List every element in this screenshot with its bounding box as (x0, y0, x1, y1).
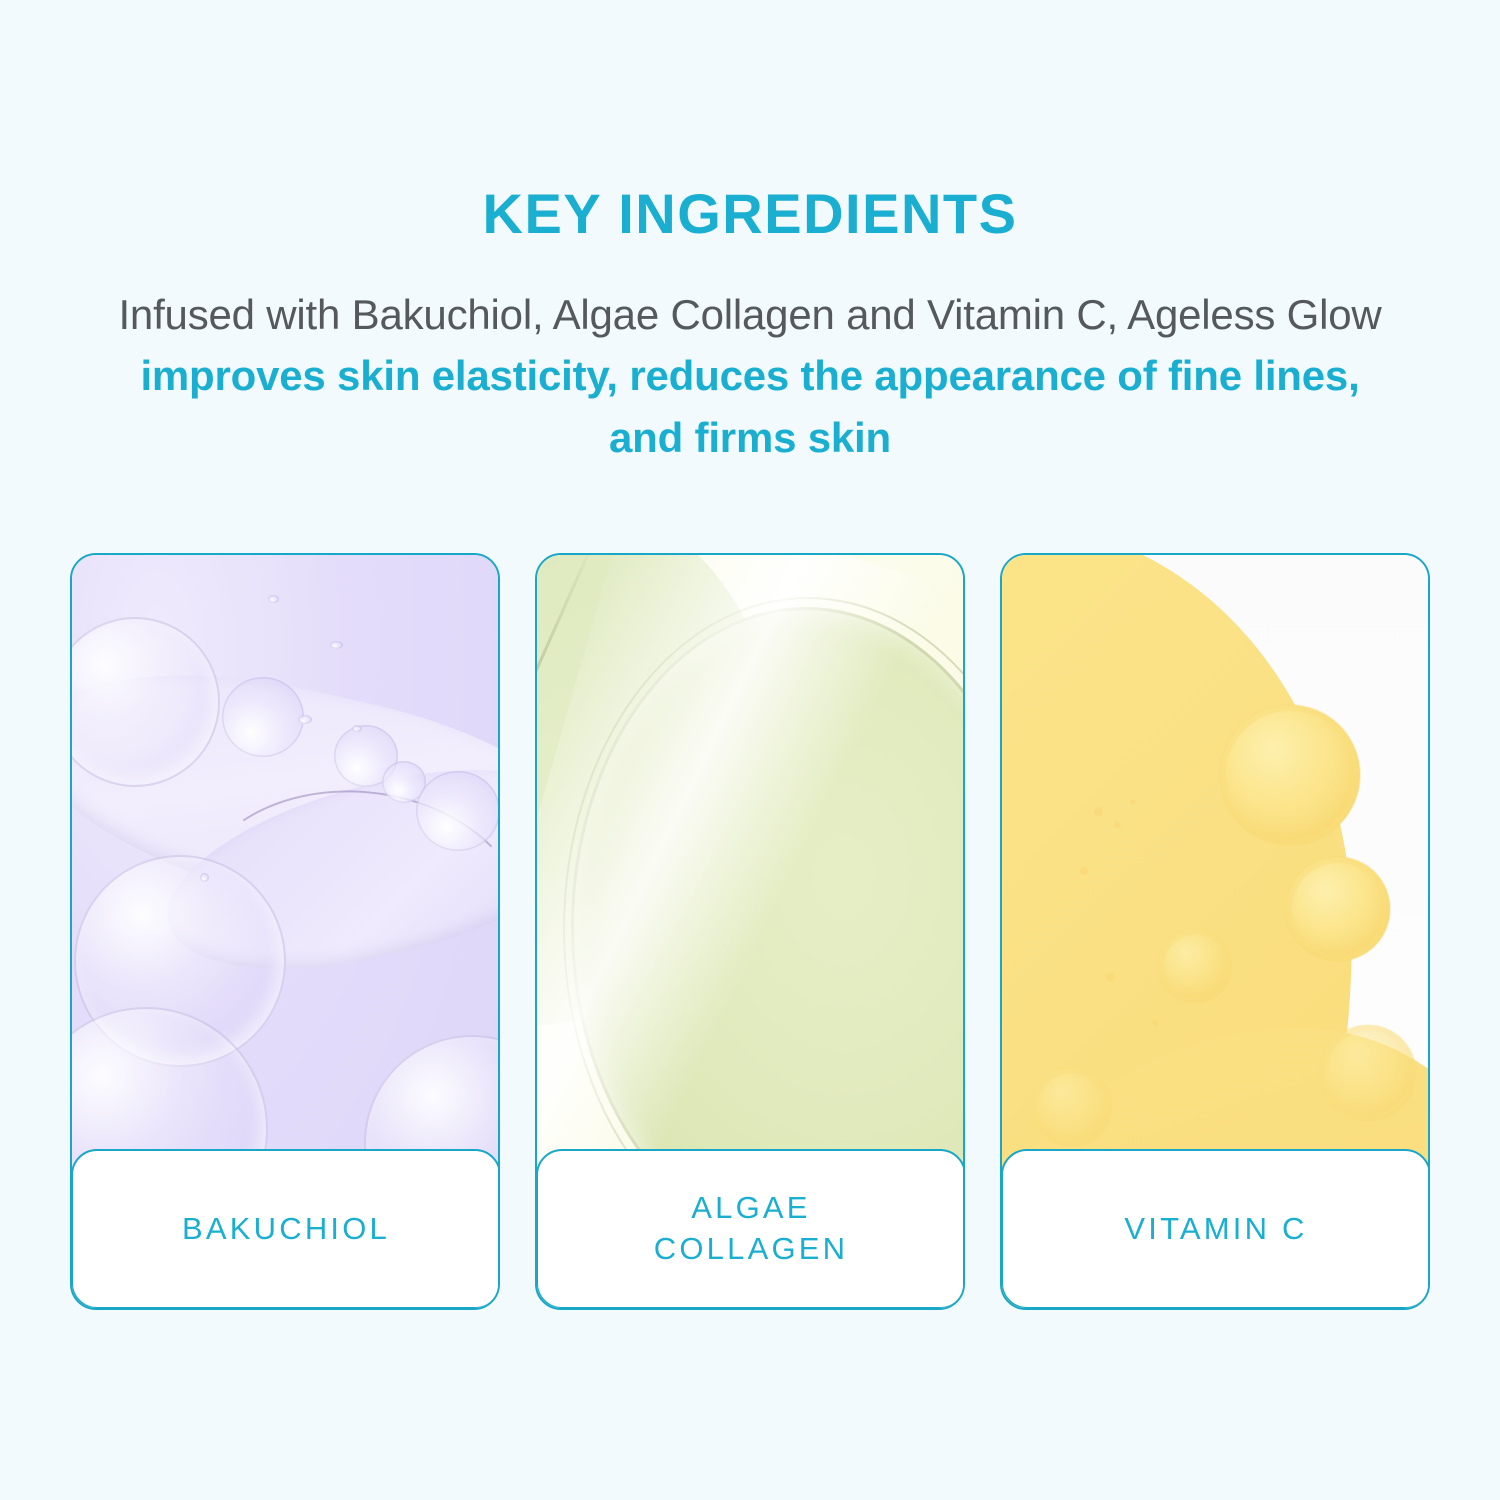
label-plate-bakuchiol: BAKUCHIOL (71, 1149, 500, 1309)
ingredient-card-vitamin-c[interactable]: VITAMIN C (1000, 553, 1430, 1310)
subtitle-benefit-text: improves skin elasticity, reduces the ap… (140, 352, 1359, 460)
ingredient-label: VITAMIN C (1124, 1209, 1307, 1250)
speck-icon (298, 715, 312, 724)
bubble-icon (416, 771, 498, 851)
ingredient-card-row: BAKUCHIOL ALGAE COLLAGEN (70, 553, 1430, 1310)
ingredient-card-algae-collagen[interactable]: ALGAE COLLAGEN (535, 553, 965, 1310)
speck-icon (1130, 799, 1136, 805)
bubble-icon (222, 677, 304, 757)
page-subtitle: Infused with Bakuchiol, Algae Collagen a… (115, 242, 1385, 468)
speck-icon (1114, 821, 1121, 828)
label-plate-algae-collagen: ALGAE COLLAGEN (536, 1149, 965, 1309)
ingredient-label: ALGAE COLLAGEN (654, 1188, 848, 1270)
ingredients-infographic: KEY INGREDIENTS Infused with Bakuchiol, … (0, 0, 1500, 1500)
speck-icon (1152, 1019, 1159, 1026)
oil-droplet-icon (1158, 929, 1232, 1003)
oil-droplet-icon (1286, 857, 1390, 961)
page-title: KEY INGREDIENTS (0, 0, 1500, 242)
ingredient-card-bakuchiol[interactable]: BAKUCHIOL (70, 553, 500, 1310)
speck-icon (352, 725, 362, 732)
oil-droplet-icon (1220, 705, 1360, 845)
ingredient-label: BAKUCHIOL (182, 1209, 390, 1250)
oil-droplet-icon (1032, 1067, 1112, 1147)
header: KEY INGREDIENTS Infused with Bakuchiol, … (0, 0, 1500, 468)
speck-icon (1094, 807, 1103, 816)
subtitle-product-name: Ageless Glow (1127, 291, 1381, 338)
speck-icon (330, 641, 343, 649)
speck-icon (200, 873, 209, 882)
speck-icon (1106, 973, 1115, 982)
label-plate-vitamin-c: VITAMIN C (1001, 1149, 1430, 1309)
speck-icon (1080, 867, 1088, 875)
speck-icon (268, 595, 279, 603)
subtitle-line-plain: Infused with Bakuchiol, Algae Collagen a… (118, 291, 1118, 338)
oil-droplet-icon (1320, 1025, 1416, 1121)
